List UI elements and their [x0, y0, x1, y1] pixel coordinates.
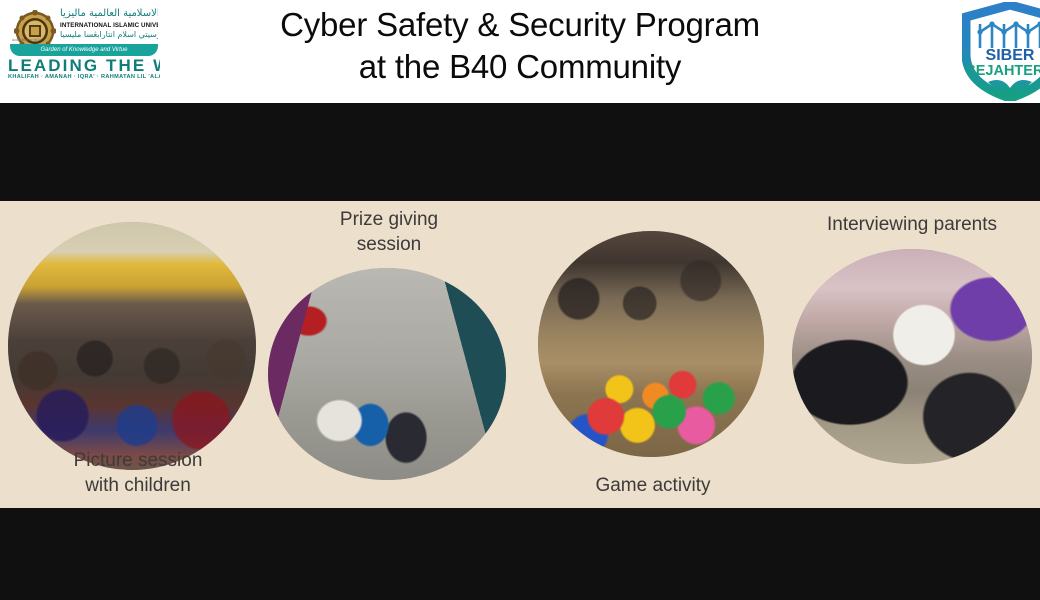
- iium-logo: الجامعة الاسلامية العالمية ماليزيا INTER…: [8, 8, 160, 80]
- iium-tagline-bar: Garden of Knowledge and Virtue: [10, 44, 158, 56]
- photo-image: [792, 249, 1032, 464]
- iium-jawi-script: اونيۏرسيتي اسلام انتارابڠسا مليسيا: [60, 30, 158, 41]
- iium-university-name: INTERNATIONAL ISLAMIC UNIVERSITY MALAYSI…: [60, 22, 158, 29]
- iium-motto: KHALIFAH · AMANAH · IQRA' · RAHMATAN LIL…: [8, 74, 160, 80]
- siber-wordmark-line1: SIBER: [986, 47, 1035, 64]
- iium-slogan: LEADING THE WAY: [8, 56, 160, 76]
- iium-accreditation-text: Accredited by MQA: [12, 38, 58, 42]
- caption-interviewing-parents: Interviewing parents: [792, 212, 1032, 237]
- photo-image: [268, 268, 506, 480]
- caption-prize-giving: Prize giving session: [284, 207, 494, 258]
- iium-tagline: Garden of Knowledge and Virtue: [10, 44, 158, 56]
- caption-picture-session: Picture session with children: [0, 448, 276, 499]
- page-title-line-2: at the B40 Community: [170, 46, 870, 88]
- siber-wordmark-line2: SEJAHTERA: [966, 63, 1040, 79]
- iium-arabic-script: الجامعة الاسلامية العالمية ماليزيا: [60, 8, 158, 22]
- caption-game-activity: Game activity: [548, 473, 758, 498]
- photo-image: [8, 222, 256, 470]
- photo-picture-session: [8, 222, 256, 470]
- presentation-slide: الجامعة الاسلامية العالمية ماليزيا INTER…: [0, 0, 1040, 600]
- photo-prize-giving: [268, 268, 506, 480]
- photo-game-activity: [538, 231, 764, 457]
- siber-sejahtera-logo: SIBER SEJAHTERA: [962, 2, 1040, 101]
- page-title-line-1: Cyber Safety & Security Program: [280, 6, 760, 43]
- photo-image: [538, 231, 764, 457]
- shield-icon: SIBER SEJAHTERA: [962, 2, 1040, 101]
- page-title: Cyber Safety & Security Program at the B…: [170, 4, 870, 87]
- slide-header: الجامعة الاسلامية العالمية ماليزيا INTER…: [0, 0, 1040, 103]
- photo-interviewing-parents: [792, 249, 1032, 464]
